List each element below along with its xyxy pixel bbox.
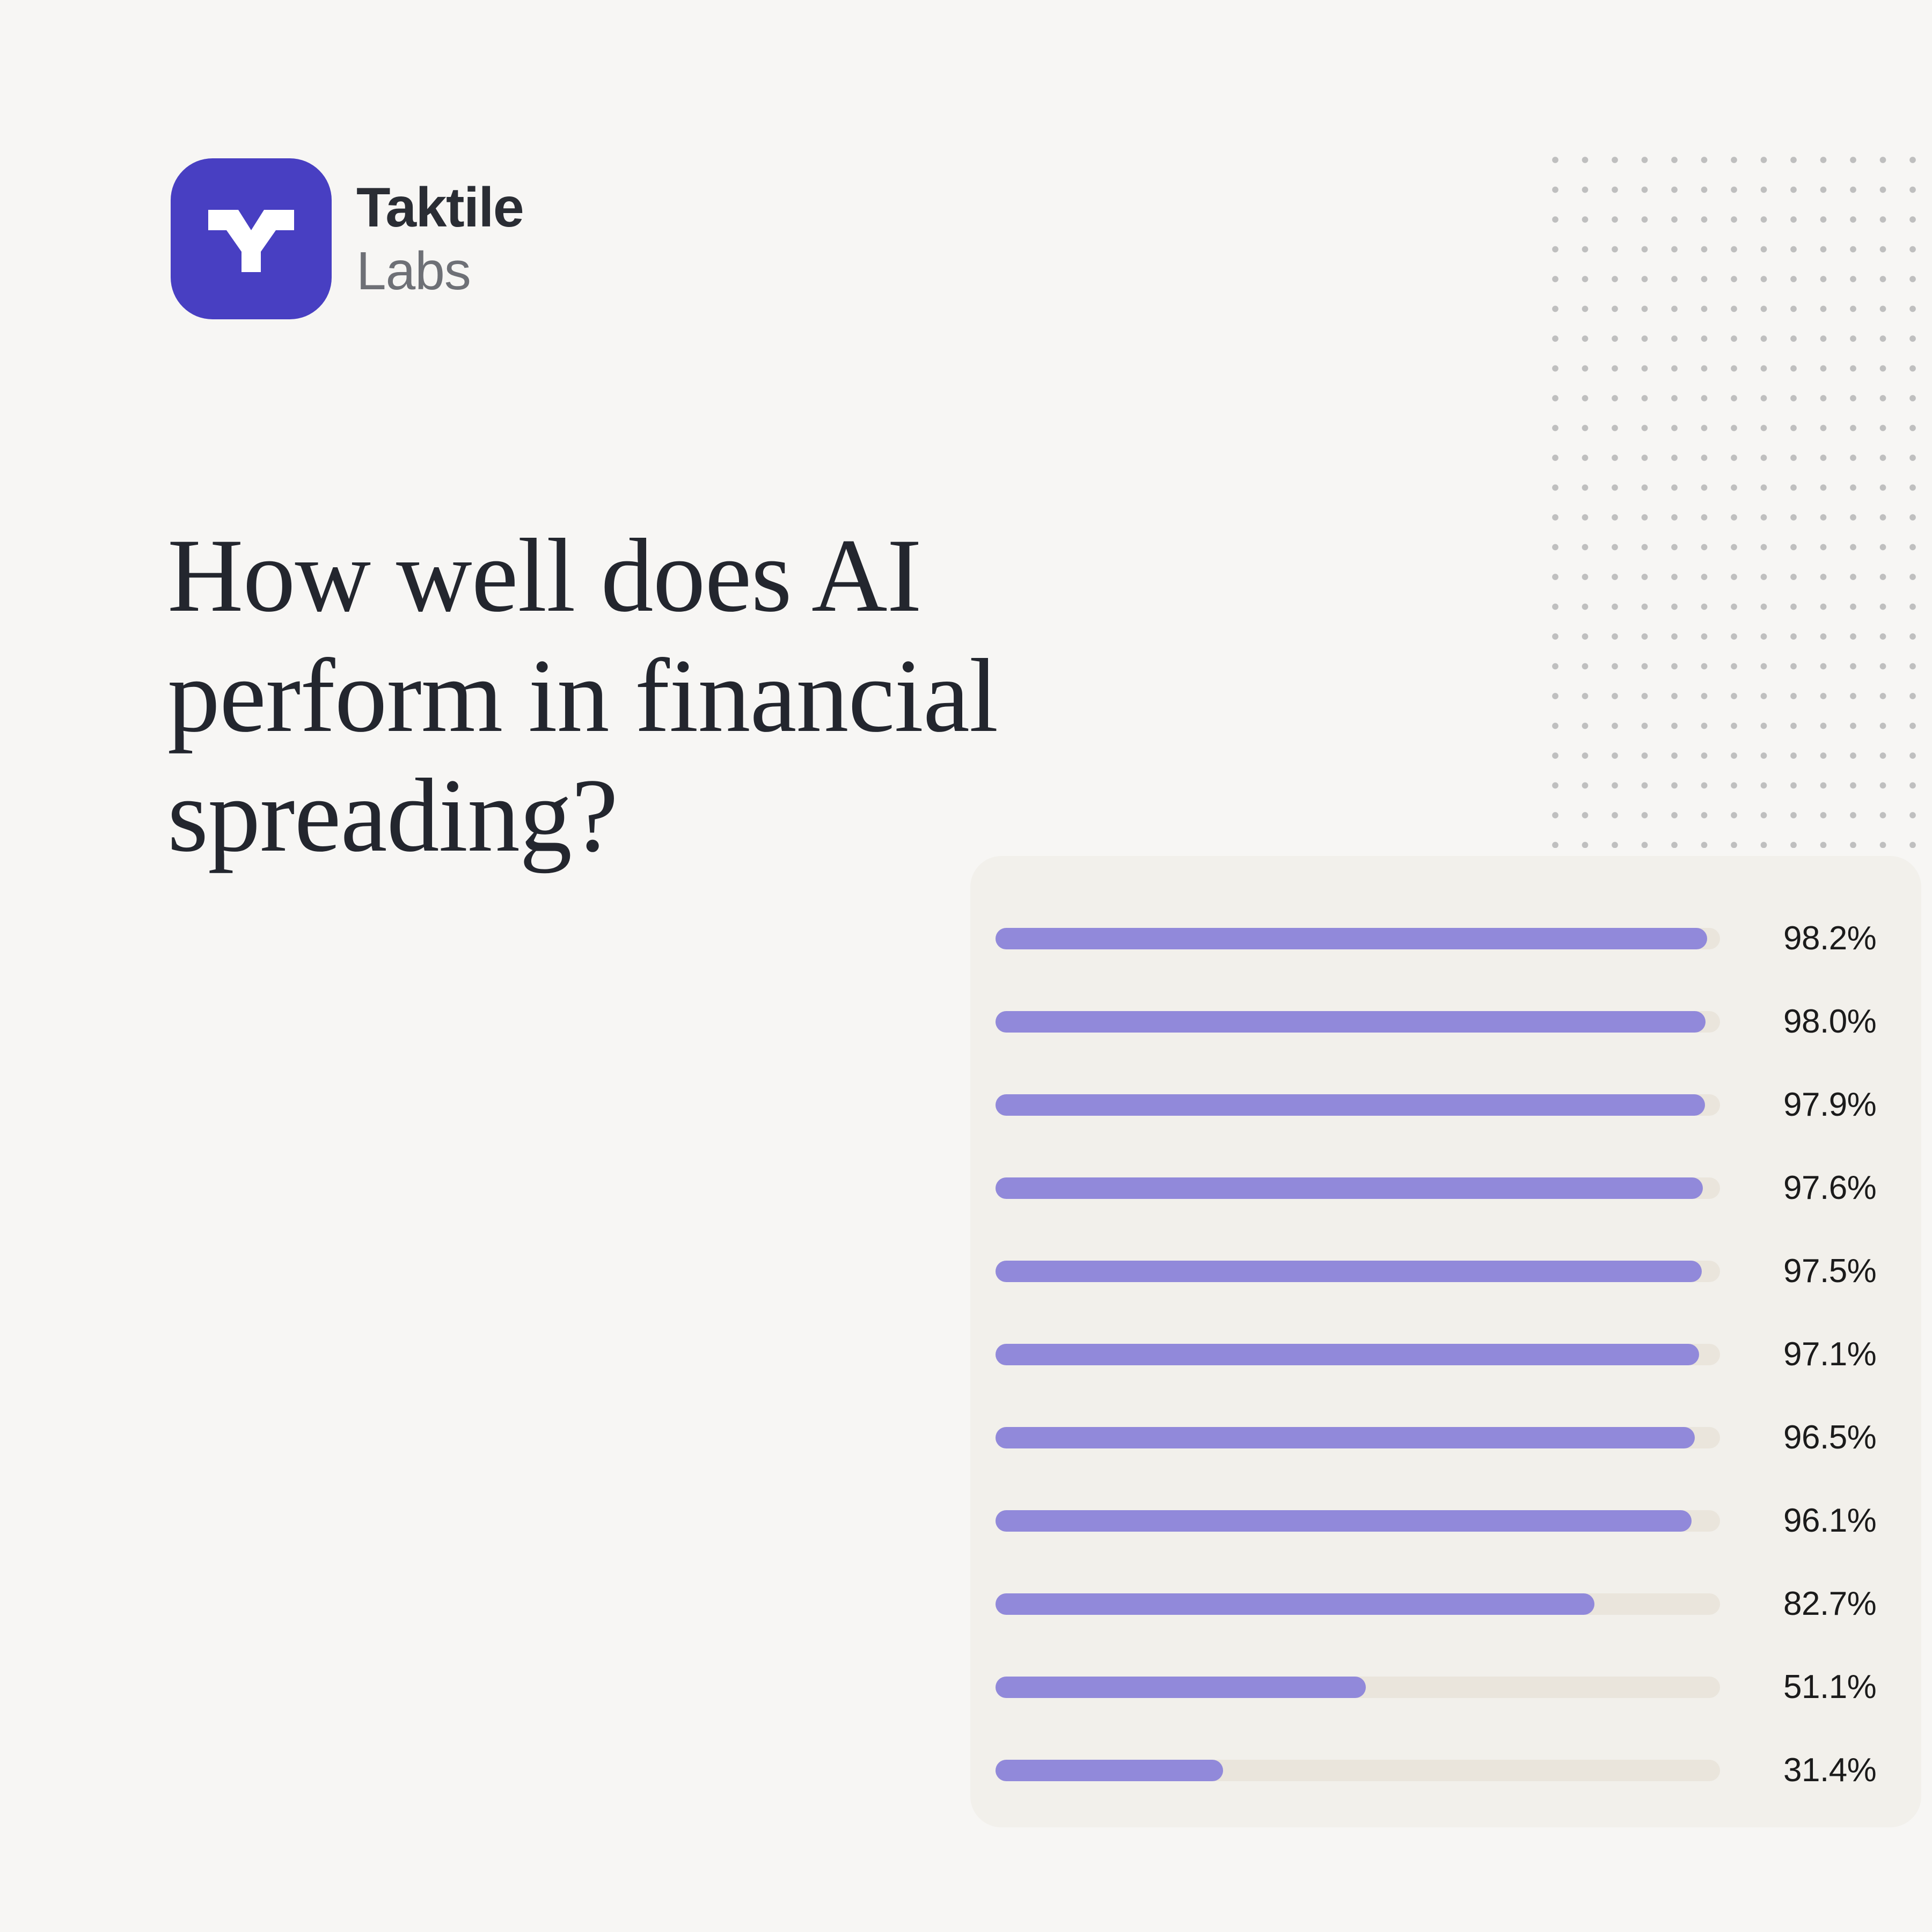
bar-track: [996, 1261, 1720, 1282]
bar-row: 96.1%: [996, 1479, 1897, 1562]
bar-value-label: 82.7%: [1783, 1585, 1876, 1623]
bar-fill: [996, 1094, 1705, 1116]
bar-row: 82.7%: [996, 1562, 1897, 1645]
bar-fill: [996, 1510, 1692, 1532]
bar-value-label: 97.9%: [1783, 1086, 1876, 1124]
taktile-y-mark-icon: [171, 158, 332, 319]
brand-lockup: Taktile Labs: [171, 158, 523, 319]
bar-row: 51.1%: [996, 1645, 1897, 1729]
bar-row: 98.0%: [996, 980, 1897, 1063]
bar-value-label: 31.4%: [1783, 1751, 1876, 1789]
bar-value-label: 98.0%: [1783, 1002, 1876, 1041]
bar-row: 96.5%: [996, 1396, 1897, 1479]
bar-row: 97.9%: [996, 1063, 1897, 1146]
bar-fill: [996, 1677, 1366, 1698]
bar-fill: [996, 1427, 1695, 1448]
bar-fill: [996, 928, 1707, 949]
bar-chart: 98.2%98.0%97.9%97.6%97.5%97.1%96.5%96.1%…: [996, 897, 1897, 1812]
bar-value-label: 96.1%: [1783, 1502, 1876, 1540]
brand-subtitle: Labs: [356, 244, 523, 298]
bar-track: [996, 1593, 1720, 1615]
bar-value-label: 96.5%: [1783, 1418, 1876, 1457]
bar-track: [996, 1677, 1720, 1698]
bar-track: [996, 1510, 1720, 1532]
chart-card: 98.2%98.0%97.9%97.6%97.5%97.1%96.5%96.1%…: [970, 856, 1921, 1827]
bar-fill: [996, 1344, 1699, 1365]
bar-track: [996, 1094, 1720, 1116]
bar-value-label: 97.6%: [1783, 1169, 1876, 1207]
bar-fill: [996, 1177, 1703, 1199]
bar-row: 97.5%: [996, 1230, 1897, 1313]
bar-value-label: 98.2%: [1783, 919, 1876, 957]
brand-words: Taktile Labs: [356, 180, 523, 298]
bar-row: 98.2%: [996, 897, 1897, 980]
brand-name: Taktile: [356, 180, 523, 236]
bar-track: [996, 1011, 1720, 1033]
bar-row: 31.4%: [996, 1729, 1897, 1812]
bar-track: [996, 1760, 1720, 1781]
bar-row: 97.6%: [996, 1146, 1897, 1230]
bar-track: [996, 928, 1720, 949]
bar-fill: [996, 1261, 1702, 1282]
bar-value-label: 97.1%: [1783, 1335, 1876, 1373]
bar-fill: [996, 1593, 1594, 1615]
bar-fill: [996, 1760, 1223, 1781]
bar-value-label: 51.1%: [1783, 1668, 1876, 1706]
page-title: How well does AI perform in financial sp…: [167, 516, 1337, 875]
bar-fill: [996, 1011, 1706, 1033]
bar-track: [996, 1177, 1720, 1199]
bar-value-label: 97.5%: [1783, 1252, 1876, 1290]
dot-grid-decoration: [1551, 156, 1932, 848]
bar-row: 97.1%: [996, 1313, 1897, 1396]
bar-track: [996, 1427, 1720, 1448]
headline-line-2: perform in financial: [167, 636, 1337, 756]
bar-track: [996, 1344, 1720, 1365]
headline-line-1: How well does AI: [167, 516, 1337, 635]
